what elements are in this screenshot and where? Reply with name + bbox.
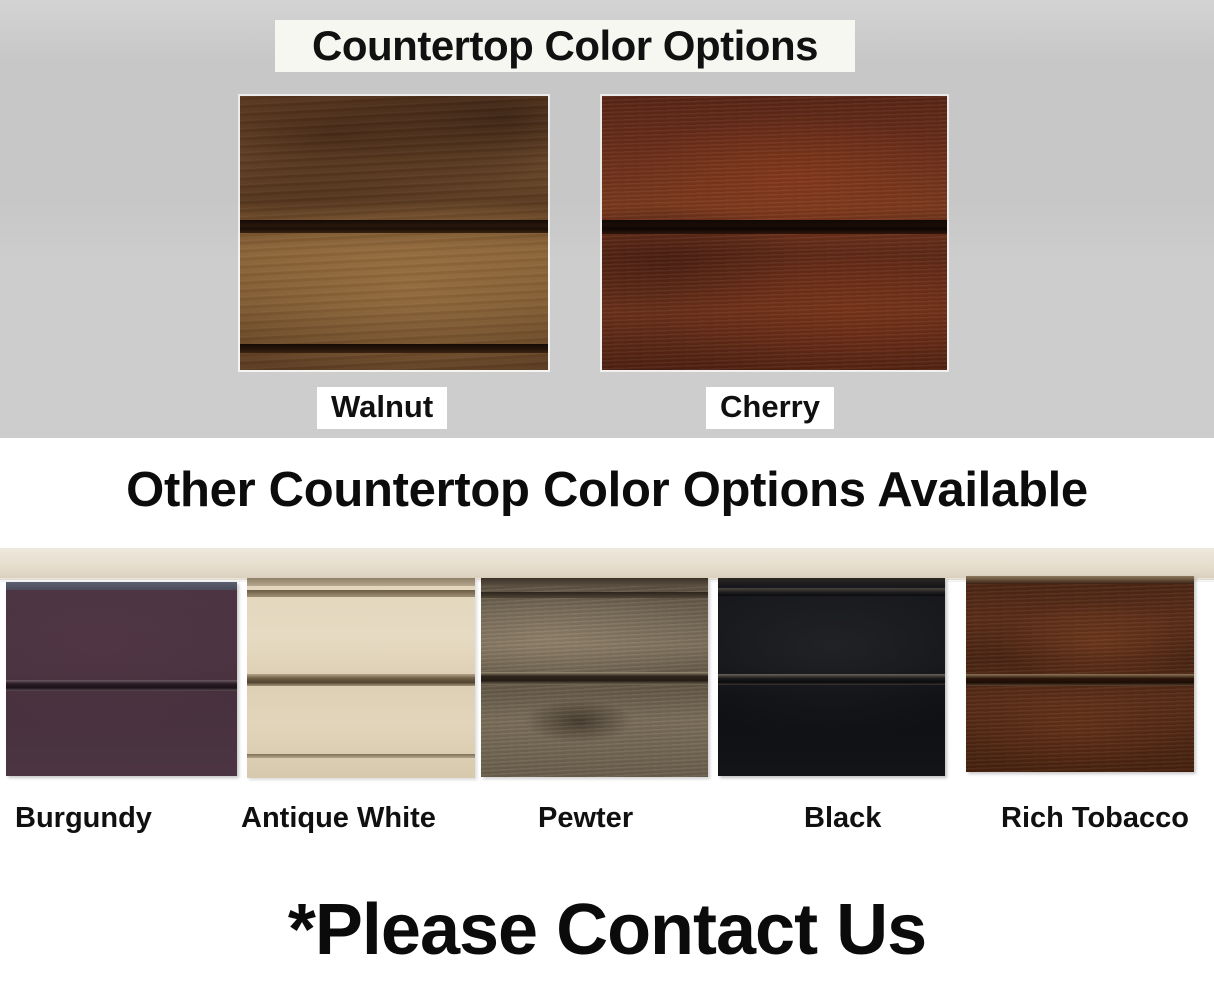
color-label-walnut: Walnut — [317, 387, 447, 429]
color-swatch-burgundy[interactable] — [6, 582, 237, 776]
swatch-groove — [240, 220, 548, 233]
swatch-groove — [247, 590, 475, 597]
swatch-groove — [966, 674, 1194, 686]
color-swatch-black[interactable] — [718, 578, 945, 776]
color-swatch-cherry[interactable] — [602, 96, 947, 370]
swatch-groove — [247, 674, 475, 686]
color-label-pewter: Pewter — [529, 800, 642, 839]
swatch-groove — [481, 672, 708, 685]
color-label-cherry: Cherry — [706, 387, 834, 429]
featured-colors-panel: Countertop Color Options Walnut Cherry — [0, 0, 1214, 438]
swatch-groove — [602, 220, 947, 234]
swatch-groove — [718, 674, 945, 685]
color-swatch-antique-white[interactable] — [247, 578, 475, 778]
swatch-top-edge — [6, 582, 237, 590]
color-label-burgundy: Burgundy — [6, 800, 161, 839]
swatch-groove — [240, 344, 548, 353]
swatch-groove — [247, 754, 475, 758]
color-label-antique-white: Antique White — [232, 800, 445, 839]
page-title: Countertop Color Options — [275, 20, 855, 72]
swatch-top-edge — [718, 578, 945, 586]
color-swatch-rich-tobacco[interactable] — [966, 576, 1194, 772]
contact-us-note: *Please Contact Us — [0, 890, 1214, 970]
color-swatch-walnut[interactable] — [240, 96, 548, 370]
other-colors-heading: Other Countertop Color Options Available — [0, 462, 1214, 518]
swatch-groove — [481, 592, 708, 598]
swatch-top-edge — [247, 578, 475, 586]
swatch-groove — [718, 588, 945, 596]
swatch-top-edge — [481, 578, 708, 586]
color-label-black: Black — [795, 800, 890, 839]
color-label-rich-tobacco: Rich Tobacco — [992, 800, 1198, 839]
swatch-groove — [6, 680, 237, 691]
color-swatch-pewter[interactable] — [481, 578, 708, 777]
swatch-top-edge — [966, 576, 1194, 584]
